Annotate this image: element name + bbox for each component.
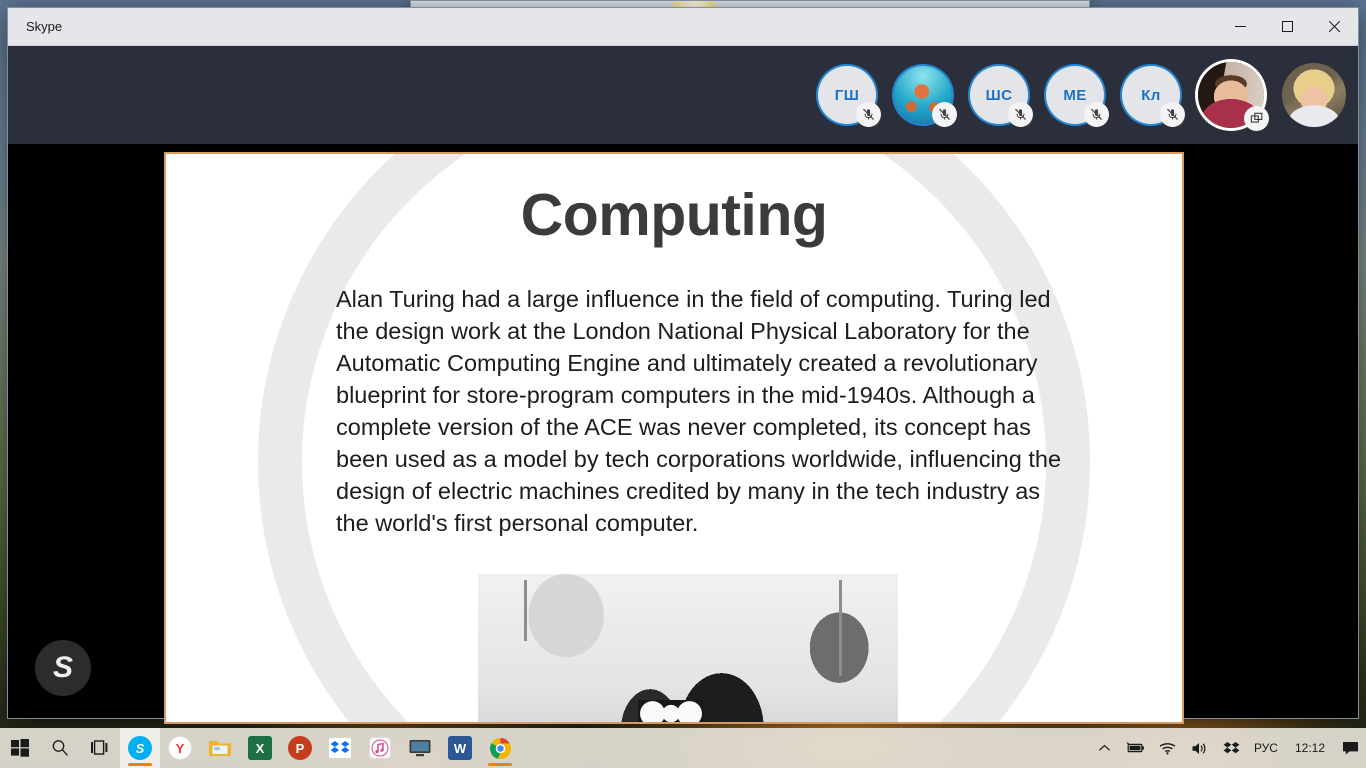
dropbox-icon xyxy=(1223,741,1240,756)
volume-icon[interactable] xyxy=(1184,728,1216,768)
windows-taskbar: S Y X P xyxy=(0,728,1366,768)
skype-logo-letter: S xyxy=(53,651,73,685)
presentation-slide[interactable]: Computing Alan Turing had a large influe… xyxy=(164,152,1184,724)
slide-title: Computing xyxy=(166,181,1182,249)
avatar-initials: Кл xyxy=(1141,87,1160,104)
battery-icon[interactable] xyxy=(1118,728,1152,768)
muted-mic-icon xyxy=(856,102,881,127)
notifications-button[interactable] xyxy=(1335,728,1366,768)
photo-pole xyxy=(839,580,842,676)
avatar-initials: ШС xyxy=(986,87,1013,104)
window-title: Skype xyxy=(26,19,62,34)
taskbar-item-skype[interactable]: S xyxy=(120,728,160,768)
participant-avatar[interactable]: МЕ xyxy=(1046,66,1104,124)
taskbar-item-yandex[interactable]: Y xyxy=(160,728,200,768)
taskbar-item-itunes[interactable] xyxy=(360,728,400,768)
wifi-icon xyxy=(1159,741,1177,755)
close-button[interactable] xyxy=(1311,8,1358,46)
word-icon: W xyxy=(448,736,472,760)
popout-window-icon[interactable] xyxy=(1244,106,1269,131)
itunes-icon xyxy=(369,737,391,759)
photo-machine xyxy=(638,700,704,724)
taskbar-item-remote-desktop[interactable] xyxy=(400,728,440,768)
chrome-icon xyxy=(489,737,512,760)
start-button[interactable] xyxy=(0,728,40,768)
minimize-button[interactable] xyxy=(1217,8,1264,46)
muted-mic-icon xyxy=(932,102,957,127)
shared-screen-stage: S Computing Alan Turing had a large infl… xyxy=(8,144,1358,718)
avatar-initials: МЕ xyxy=(1063,87,1086,104)
slide-body-text: Alan Turing had a large influence in the… xyxy=(336,283,1066,539)
participant-avatar[interactable] xyxy=(894,66,952,124)
muted-mic-icon xyxy=(1008,102,1033,127)
photo-pole xyxy=(524,580,527,641)
search-button[interactable] xyxy=(40,728,80,768)
chevron-up-icon xyxy=(1098,742,1111,755)
avatar xyxy=(1282,63,1346,127)
participant-avatar[interactable]: Кл xyxy=(1122,66,1180,124)
window-controls xyxy=(1217,8,1358,46)
monitor-icon xyxy=(408,738,432,758)
maximize-button[interactable] xyxy=(1264,8,1311,46)
taskbar-item-chrome[interactable] xyxy=(480,728,520,768)
participant-avatar[interactable] xyxy=(1282,63,1346,127)
taskbar-item-powerpoint[interactable]: P xyxy=(280,728,320,768)
skype-titlebar[interactable]: Skype xyxy=(8,8,1358,46)
taskbar-item-file-explorer[interactable] xyxy=(200,728,240,768)
skype-icon: S xyxy=(128,736,152,760)
powerpoint-icon: P xyxy=(288,736,312,760)
excel-icon: X xyxy=(248,736,272,760)
speaker-icon xyxy=(1191,741,1209,756)
folder-icon xyxy=(208,737,232,759)
tray-dropbox-icon[interactable] xyxy=(1216,728,1247,768)
participant-avatar[interactable]: ГШ xyxy=(818,66,876,124)
skype-window: Skype ГШ xyxy=(8,8,1358,718)
system-tray: РУС 12:12 xyxy=(1091,728,1366,768)
dropbox-icon xyxy=(329,737,351,759)
muted-mic-icon xyxy=(1084,102,1109,127)
avatar-initials: ГШ xyxy=(835,87,859,104)
notification-icon xyxy=(1342,741,1359,756)
taskbar-item-word[interactable]: W xyxy=(440,728,480,768)
task-view-icon xyxy=(90,738,110,758)
skype-logo-icon: S xyxy=(35,640,91,696)
network-wifi-icon[interactable] xyxy=(1152,728,1184,768)
slide-historic-photo xyxy=(478,574,898,724)
taskbar-item-excel[interactable]: X xyxy=(240,728,280,768)
person-video-image xyxy=(1282,63,1346,127)
yandex-icon: Y xyxy=(168,736,192,760)
clock[interactable]: 12:12 xyxy=(1285,728,1335,768)
participants-bar: ГШ xyxy=(8,46,1358,144)
search-icon xyxy=(50,738,70,758)
participant-avatar[interactable]: ШС xyxy=(970,66,1028,124)
battery-icon xyxy=(1125,741,1145,755)
taskbar-item-dropbox[interactable] xyxy=(320,728,360,768)
windows-logo-icon xyxy=(10,738,30,758)
participant-avatar-active-speaker[interactable] xyxy=(1198,62,1264,128)
task-view-button[interactable] xyxy=(80,728,120,768)
language-indicator[interactable]: РУС xyxy=(1247,728,1285,768)
show-hidden-icons-button[interactable] xyxy=(1091,728,1118,768)
clock-time: 12:12 xyxy=(1295,741,1325,755)
muted-mic-icon xyxy=(1160,102,1185,127)
